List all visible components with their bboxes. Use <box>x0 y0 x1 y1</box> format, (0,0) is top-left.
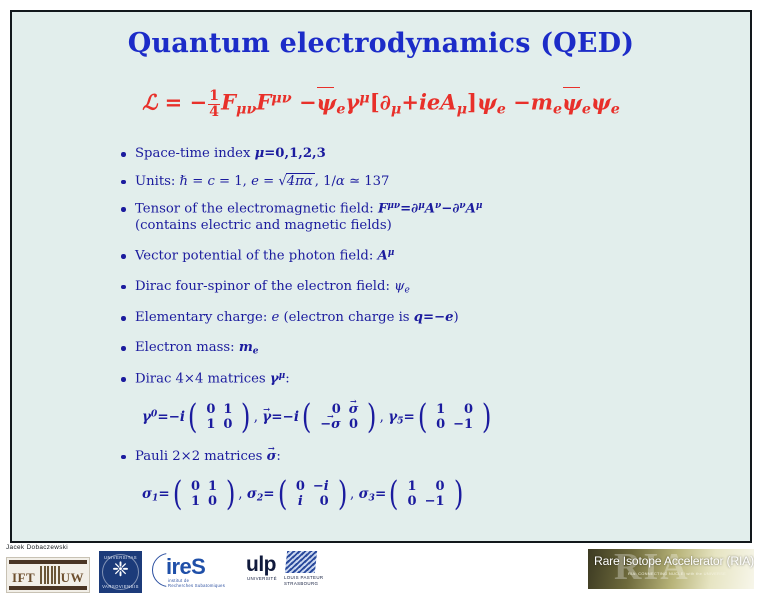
bullet-dot-icon <box>121 346 126 351</box>
slide-page: Quantum electrodynamics (QED) ℒ = −14Fμν… <box>0 0 763 597</box>
matrix-grid: 0110 <box>184 479 224 510</box>
ulp-logo: ulp UNIVERSITÉ LOUIS PASTEUR STRASBOURG <box>246 549 326 593</box>
sigma2-equals: = <box>263 485 274 501</box>
sigma3-equals: = <box>375 485 386 501</box>
charge-q: q <box>414 310 423 325</box>
bullet-dot-icon <box>121 316 126 321</box>
gamma5-symbol: γ <box>388 409 397 425</box>
e-symbol: e <box>251 174 259 189</box>
partial-1-sup: μ <box>418 201 425 211</box>
bullet-item-em-field-tensor: Tensor of the electromagnetic field: Fμν… <box>120 201 720 235</box>
bullet-text: Vector potential of the photon field: Aμ <box>135 248 720 265</box>
A-symbol-sup: μ <box>388 248 395 258</box>
lagrangian-A-sub: μ <box>457 102 467 118</box>
gamma5-equals: = <box>404 409 415 425</box>
paren-left-icon: ( <box>418 404 428 431</box>
sigma2-matrix: (0−ii0) <box>276 479 349 510</box>
bullet-dot-icon <box>121 285 126 290</box>
bullet-text: Elementary charge: e (electron charge is… <box>135 310 720 327</box>
lagrangian-psi-2-sub: e <box>497 102 506 118</box>
lagrangian-F2: F <box>256 90 271 115</box>
lagrangian-psi-4: ψ <box>591 90 611 115</box>
bullet-item-elementary-charge: Elementary charge: e (electron charge is… <box>120 310 720 327</box>
bullet-text: Tensor of the electromagnetic field: Fμν… <box>135 201 720 218</box>
gamma-vector-symbol: γ <box>262 409 271 425</box>
lagrangian-F2-sup: μν <box>271 91 291 107</box>
paren-left-icon: ( <box>188 404 198 431</box>
bullet-item-units: Units: ℏ = c = 1, e = √4πα, 1/α ≃ 137 <box>120 174 720 191</box>
paren-left-icon: ( <box>173 481 183 508</box>
bullet-text: Dirac 4×4 matrices γμ: <box>135 371 720 388</box>
lagrangian-quarter: 14 <box>208 89 220 119</box>
sigma-vector-symbol: σ <box>267 449 277 464</box>
lagrangian-plus: + <box>401 90 419 115</box>
bullet-item-space-time-index: Space-time index μ=0,1,2,3 <box>120 146 720 163</box>
lagrangian-minus-3: − <box>513 90 531 115</box>
hbar-symbol: ℏ <box>180 174 189 189</box>
ria-logo: RIA Rare Isotope Accelerator (RIA) RIA: … <box>588 549 754 589</box>
lagrangian-psibar-3-sub: e <box>582 102 591 118</box>
bullet-item-vector-potential: Vector potential of the photon field: Aμ <box>120 248 720 265</box>
sigma1-equals: = <box>158 485 169 501</box>
mass-m-sub: e <box>253 347 259 357</box>
lagrangian-bracket-open: [ <box>370 90 380 115</box>
seal-text-bottom: VARSOVIENSIS <box>99 584 142 589</box>
A-2: A <box>466 202 476 217</box>
bullet-item-dirac-four-spinor: Dirac four-spinor of the electron field:… <box>120 279 720 297</box>
lagrangian-equals: = <box>165 90 183 115</box>
F-equals: = <box>400 202 411 217</box>
bullet-text: Electron mass: me <box>135 340 720 358</box>
A-2-sup: μ <box>476 201 483 211</box>
logo-base <box>9 586 87 590</box>
gamma0-equals: = <box>157 409 168 425</box>
lagrangian-F1-sub: μν <box>236 102 256 118</box>
charge-e2: e <box>445 310 453 325</box>
pauli-matrices-equation: σ1=(0110), σ2=(0−ii0), σ3=(100−1) <box>120 479 720 510</box>
lagrangian-m-sub: e <box>553 102 562 118</box>
warsaw-university-seal: UNIVERSITAS ❈ VARSOVIENSIS <box>99 551 142 593</box>
lagrangian-gamma: γ <box>345 90 359 115</box>
ulp-flag-icon <box>285 551 317 573</box>
c-symbol: c <box>207 174 214 189</box>
gamma-symbol: γ <box>270 372 279 387</box>
gamma0-matrix: (0110) <box>186 402 253 433</box>
F-tensor-sup: μν <box>387 201 400 211</box>
psi-symbol: ψ <box>394 279 404 294</box>
gamma-matrices-equation: γ0=−i(0110), γ=−i(0σ−σ0), γ5=(100−1) <box>120 402 720 433</box>
author-name: Jacek Dobaczewski <box>6 544 92 551</box>
paren-left-icon: ( <box>302 404 312 431</box>
uw-label: UW <box>61 570 84 586</box>
lagrangian-partial: ∂ <box>380 90 391 115</box>
paren-right-icon: ) <box>226 481 236 508</box>
slide-footer: Jacek Dobaczewski IFT UW UNIVERSITAS ❈ V… <box>0 543 763 597</box>
paren-right-icon: ) <box>367 404 377 431</box>
lagrangian-minus-1: − <box>190 90 208 115</box>
bullet-dot-icon <box>121 455 126 460</box>
bullet-text: Dirac four-spinor of the electron field:… <box>135 279 720 297</box>
lagrangian-minus-2: − <box>299 90 317 115</box>
F-tensor: F <box>378 202 387 217</box>
gammavec-minus-i: −i <box>283 409 299 425</box>
mass-m: m <box>239 340 253 355</box>
lagrangian-L: ℒ <box>142 90 157 115</box>
slide-frame: Quantum electrodynamics (QED) ℒ = −14Fμν… <box>10 10 752 543</box>
mu-values: =0,1,2,3 <box>264 146 326 161</box>
gamma-vector-matrix: (0σ−σ0) <box>300 402 379 433</box>
author-block: Jacek Dobaczewski <box>6 544 92 551</box>
lagrangian-ie: ie <box>419 90 440 115</box>
matrix-grid: 0σ−σ0 <box>313 402 365 433</box>
ria-tagline: RIA: CONNECTING NUCLEI with the UNIVERSE <box>628 571 726 576</box>
lagrangian-psi-4-sub: e <box>611 102 620 118</box>
matrix-grid: 0110 <box>199 402 239 433</box>
ulp-line1: UNIVERSITÉ <box>247 576 277 581</box>
paren-left-icon: ( <box>389 481 399 508</box>
matrix-grid: 0−ii0 <box>289 479 336 510</box>
bullet-text-second-line: (contains electric and magnetic fields) <box>135 218 720 235</box>
matrix-grid: 100−1 <box>401 479 452 510</box>
gamma0-minus-i: −i <box>169 409 185 425</box>
paren-right-icon: ) <box>241 404 251 431</box>
lagrangian-psibar-1: ψ <box>317 90 337 115</box>
A-1: A <box>425 202 435 217</box>
ires-subtitle-line2: Recherches Subatomiques <box>168 583 225 588</box>
lagrangian-psibar-3: ψ <box>562 90 582 115</box>
alpha-symbol: α <box>336 174 345 189</box>
bullet-item-electron-mass: Electron mass: me <box>120 340 720 358</box>
bullet-text: Units: ℏ = c = 1, e = √4πα, 1/α ≃ 137 <box>135 174 720 191</box>
gammavec-equals: = <box>271 409 282 425</box>
lagrangian-m: m <box>531 90 553 115</box>
bullet-list: Space-time index μ=0,1,2,3 Units: ℏ = c … <box>120 146 720 509</box>
paren-right-icon: ) <box>338 481 348 508</box>
lagrangian-psi-2: ψ <box>477 90 497 115</box>
psi-symbol-sub: e <box>404 285 409 295</box>
ulp-wordmark: ulp <box>246 553 276 577</box>
bullet-dot-icon <box>121 207 126 212</box>
mu-symbol: μ <box>255 146 265 161</box>
bullet-dot-icon <box>121 180 126 185</box>
bullet-item-dirac-matrices: Dirac 4×4 matrices γμ: <box>120 371 720 388</box>
page-title: Quantum electrodynamics (QED) <box>12 28 750 59</box>
tensor-minus: − <box>441 202 452 217</box>
logo-roof <box>9 560 87 564</box>
A-symbol: A <box>378 249 388 264</box>
bullet-item-pauli-matrices: Pauli 2×2 matrices σ: <box>120 449 720 466</box>
ulp-line3: STRASBOURG <box>284 581 318 586</box>
bullet-dot-icon <box>121 254 126 259</box>
ulp-line2: LOUIS PASTEUR <box>284 575 323 580</box>
bullet-text: Pauli 2×2 matrices σ: <box>135 449 720 466</box>
sigma3-symbol: σ <box>359 485 369 501</box>
sqrt-radicand: 4πα <box>286 173 315 189</box>
logo-columns-icon <box>40 566 60 584</box>
lagrangian-A: A <box>440 90 456 115</box>
sigma1-symbol: σ <box>142 485 152 501</box>
paren-left-icon: ( <box>277 481 287 508</box>
lagrangian-bracket-close: ] <box>467 90 477 115</box>
lagrangian-partial-sub: μ <box>391 102 401 118</box>
paren-right-icon: ) <box>453 481 463 508</box>
lagrangian-gamma-sup: μ <box>359 91 369 107</box>
lagrangian-F1: F <box>221 90 236 115</box>
matrix-grid: 100−1 <box>429 402 480 433</box>
bullet-text: Space-time index μ=0,1,2,3 <box>135 146 720 163</box>
gamma0-symbol: γ <box>142 409 151 425</box>
bullet-dot-icon <box>121 152 126 157</box>
ift-label: IFT <box>12 570 35 586</box>
paren-right-icon: ) <box>482 404 492 431</box>
bullet-dot-icon <box>121 377 126 382</box>
ires-wordmark: ireS <box>166 554 205 580</box>
sigma2-symbol: σ <box>247 485 257 501</box>
ift-uw-logo: IFT UW <box>6 557 90 593</box>
sigma1-matrix: (0110) <box>171 479 238 510</box>
ires-logo: ireS institut de Recherches Subatomiques <box>152 549 230 593</box>
lagrangian-equation: ℒ = −14FμνFμν −ψeγμ[∂μ+ieAμ]ψe −meψeψe <box>12 89 750 119</box>
ria-title: Rare Isotope Accelerator (RIA) <box>594 554 754 568</box>
sigma3-matrix: (100−1) <box>387 479 465 510</box>
eagle-icon: ❈ <box>99 560 142 580</box>
charge-eq: =− <box>423 310 445 325</box>
gamma5-matrix: (100−1) <box>416 402 494 433</box>
